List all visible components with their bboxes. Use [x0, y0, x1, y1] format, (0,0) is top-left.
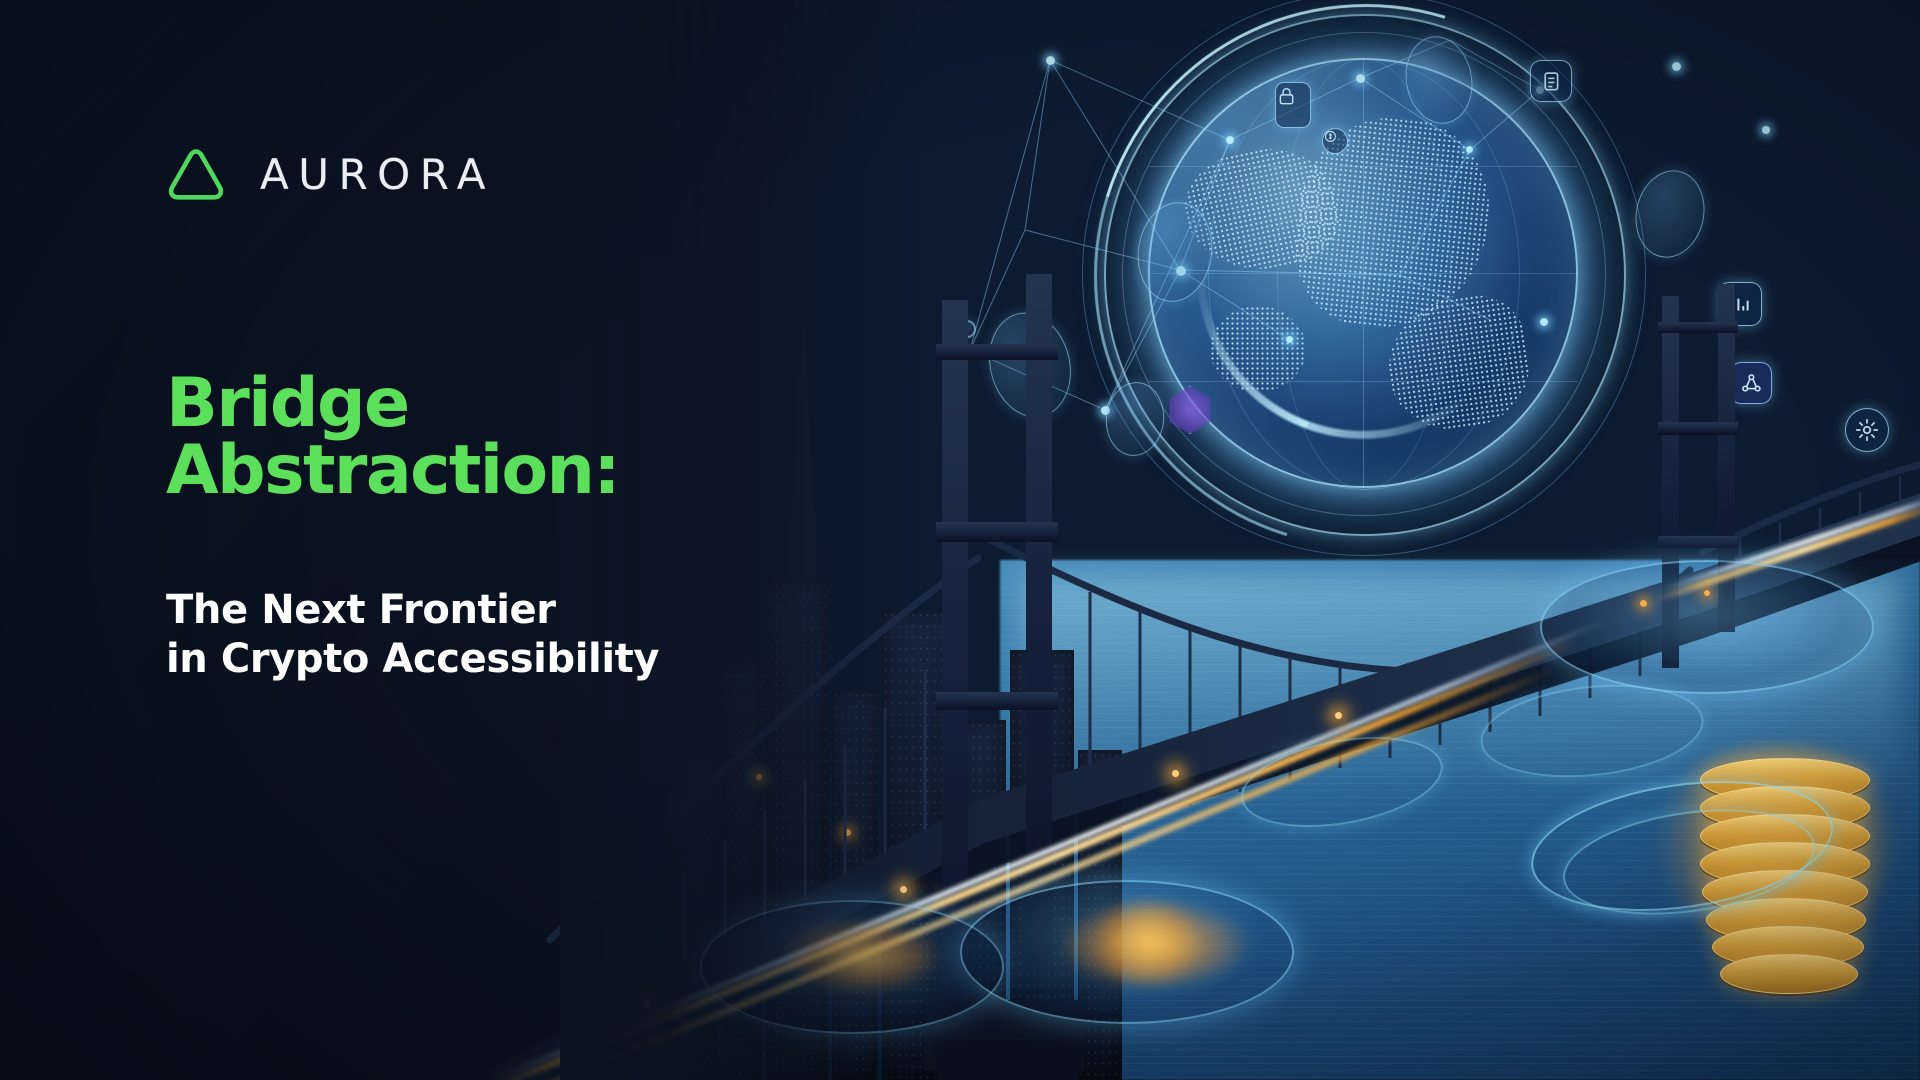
subheadline-line-1: The Next Frontier: [166, 586, 726, 635]
network-node: [1226, 136, 1234, 144]
brand-wordmark: AURORA: [260, 154, 495, 196]
network-node: [1046, 56, 1055, 65]
hero-banner: AURORA Bridge Abstraction: The Next Fron…: [0, 0, 1920, 1080]
city-light: [1640, 600, 1647, 607]
lock-icon: [1275, 82, 1311, 128]
wallet-icon: [1322, 128, 1348, 154]
brand-logo[interactable]: AURORA: [166, 146, 495, 204]
deck-lamp: [1172, 770, 1179, 777]
glowing-platform: [1540, 560, 1874, 694]
coin-glow: [1088, 902, 1208, 982]
document-icon: [1530, 60, 1572, 102]
network-node: [1762, 126, 1770, 134]
content-column: AURORA Bridge Abstraction: The Next Fron…: [0, 0, 760, 1080]
network-node: [1356, 74, 1365, 83]
city-light: [1704, 590, 1710, 596]
subheadline: The Next Frontier in Crypto Accessibilit…: [166, 586, 726, 684]
headline: Bridge Abstraction:: [166, 370, 726, 505]
headline-line-1: Bridge: [166, 370, 726, 437]
headline-line-2: Abstraction:: [166, 437, 726, 504]
coin: [1720, 954, 1858, 994]
network-node: [1672, 62, 1681, 71]
network-node: [1466, 146, 1473, 153]
aurora-triangle-icon: [166, 146, 226, 204]
subheadline-line-2: in Crypto Accessibility: [166, 635, 726, 684]
deck-lamp: [1335, 712, 1342, 719]
